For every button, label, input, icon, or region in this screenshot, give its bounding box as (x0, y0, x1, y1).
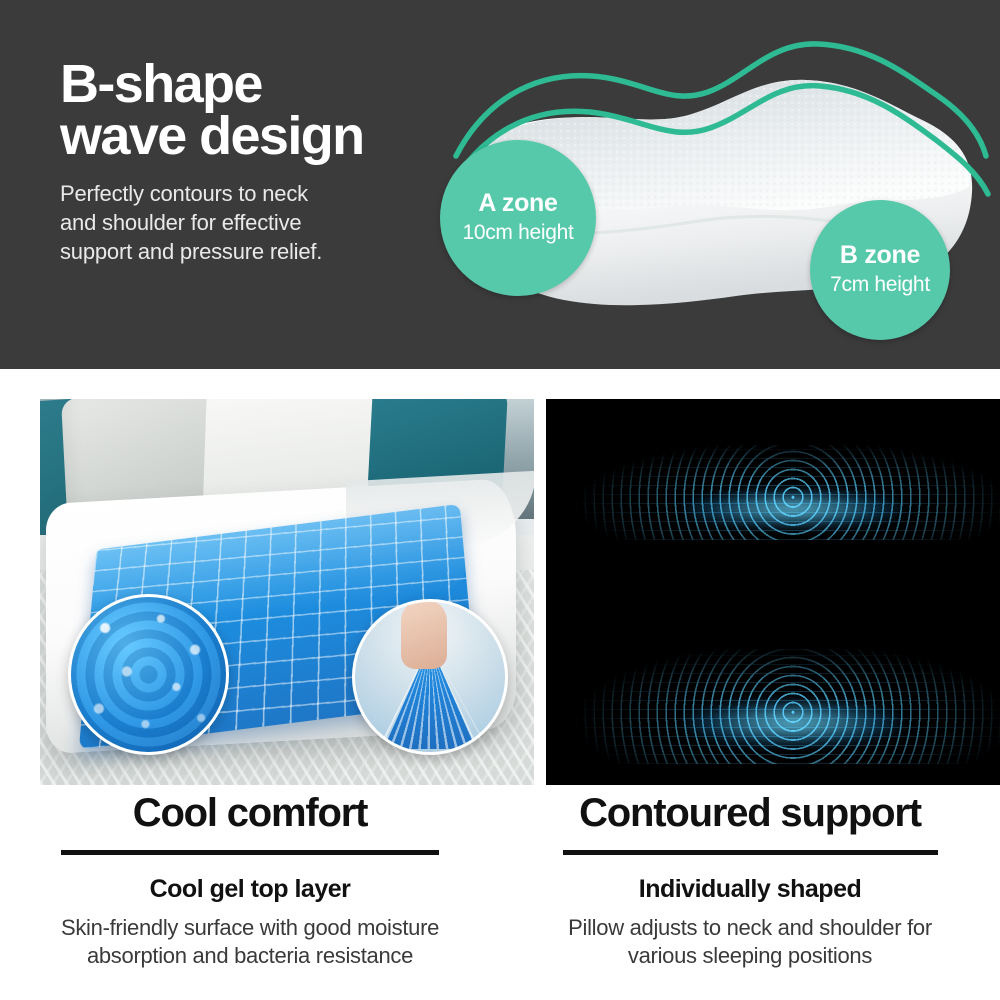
dark-backdrop (546, 399, 1000, 785)
zone-a-height: 10cm height (462, 220, 573, 246)
feature-heading: Cool comfort (0, 769, 500, 836)
zone-a-label: A zone (478, 190, 557, 218)
feature-subheading: Cool gel top layer (0, 855, 500, 904)
pillow-illustration: A zone 10cm height B zone 7cm height (440, 10, 1000, 360)
feature-column-cool-comfort: Cool comfort Cool gel top layer Skin-fri… (0, 769, 500, 1000)
gel-beads-texture (71, 597, 226, 752)
gel-beads-inset (68, 594, 229, 755)
product-infographic: B-shape wave design Perfectly contours t… (0, 0, 1000, 1000)
bedroom-scene (40, 399, 534, 785)
feature-description: Skin-friendly surface with good moisture… (0, 914, 500, 969)
glow-core-top (684, 489, 901, 529)
hero-copy: B-shape wave design Perfectly contours t… (60, 58, 440, 266)
zone-badge-b: B zone 7cm height (810, 200, 950, 340)
zone-b-height: 7cm height (830, 272, 930, 298)
zone-b-label: B zone (840, 242, 920, 270)
page-title: B-shape wave design (60, 58, 440, 163)
feature-subheading: Individually shaped (500, 855, 1000, 904)
feature-description: Pillow adjusts to neck and shoulder for … (500, 914, 1000, 969)
backlit-pillow-photo (546, 399, 1000, 785)
finger (401, 599, 447, 669)
gel-pinch-inset (352, 599, 508, 755)
gel-pillow-photo (40, 399, 534, 785)
hero-panel: B-shape wave design Perfectly contours t… (0, 0, 1000, 369)
feature-column-contoured-support: Contoured support Individually shaped Pi… (500, 769, 1000, 1000)
hero-subtitle: Perfectly contours to neck and shoulder … (60, 179, 440, 266)
feature-heading: Contoured support (500, 769, 1000, 836)
photo-row (0, 383, 1000, 769)
feature-text-row: Cool comfort Cool gel top layer Skin-fri… (0, 769, 1000, 1000)
zone-badge-a: A zone 10cm height (440, 140, 596, 296)
glow-core-bottom (684, 699, 901, 747)
